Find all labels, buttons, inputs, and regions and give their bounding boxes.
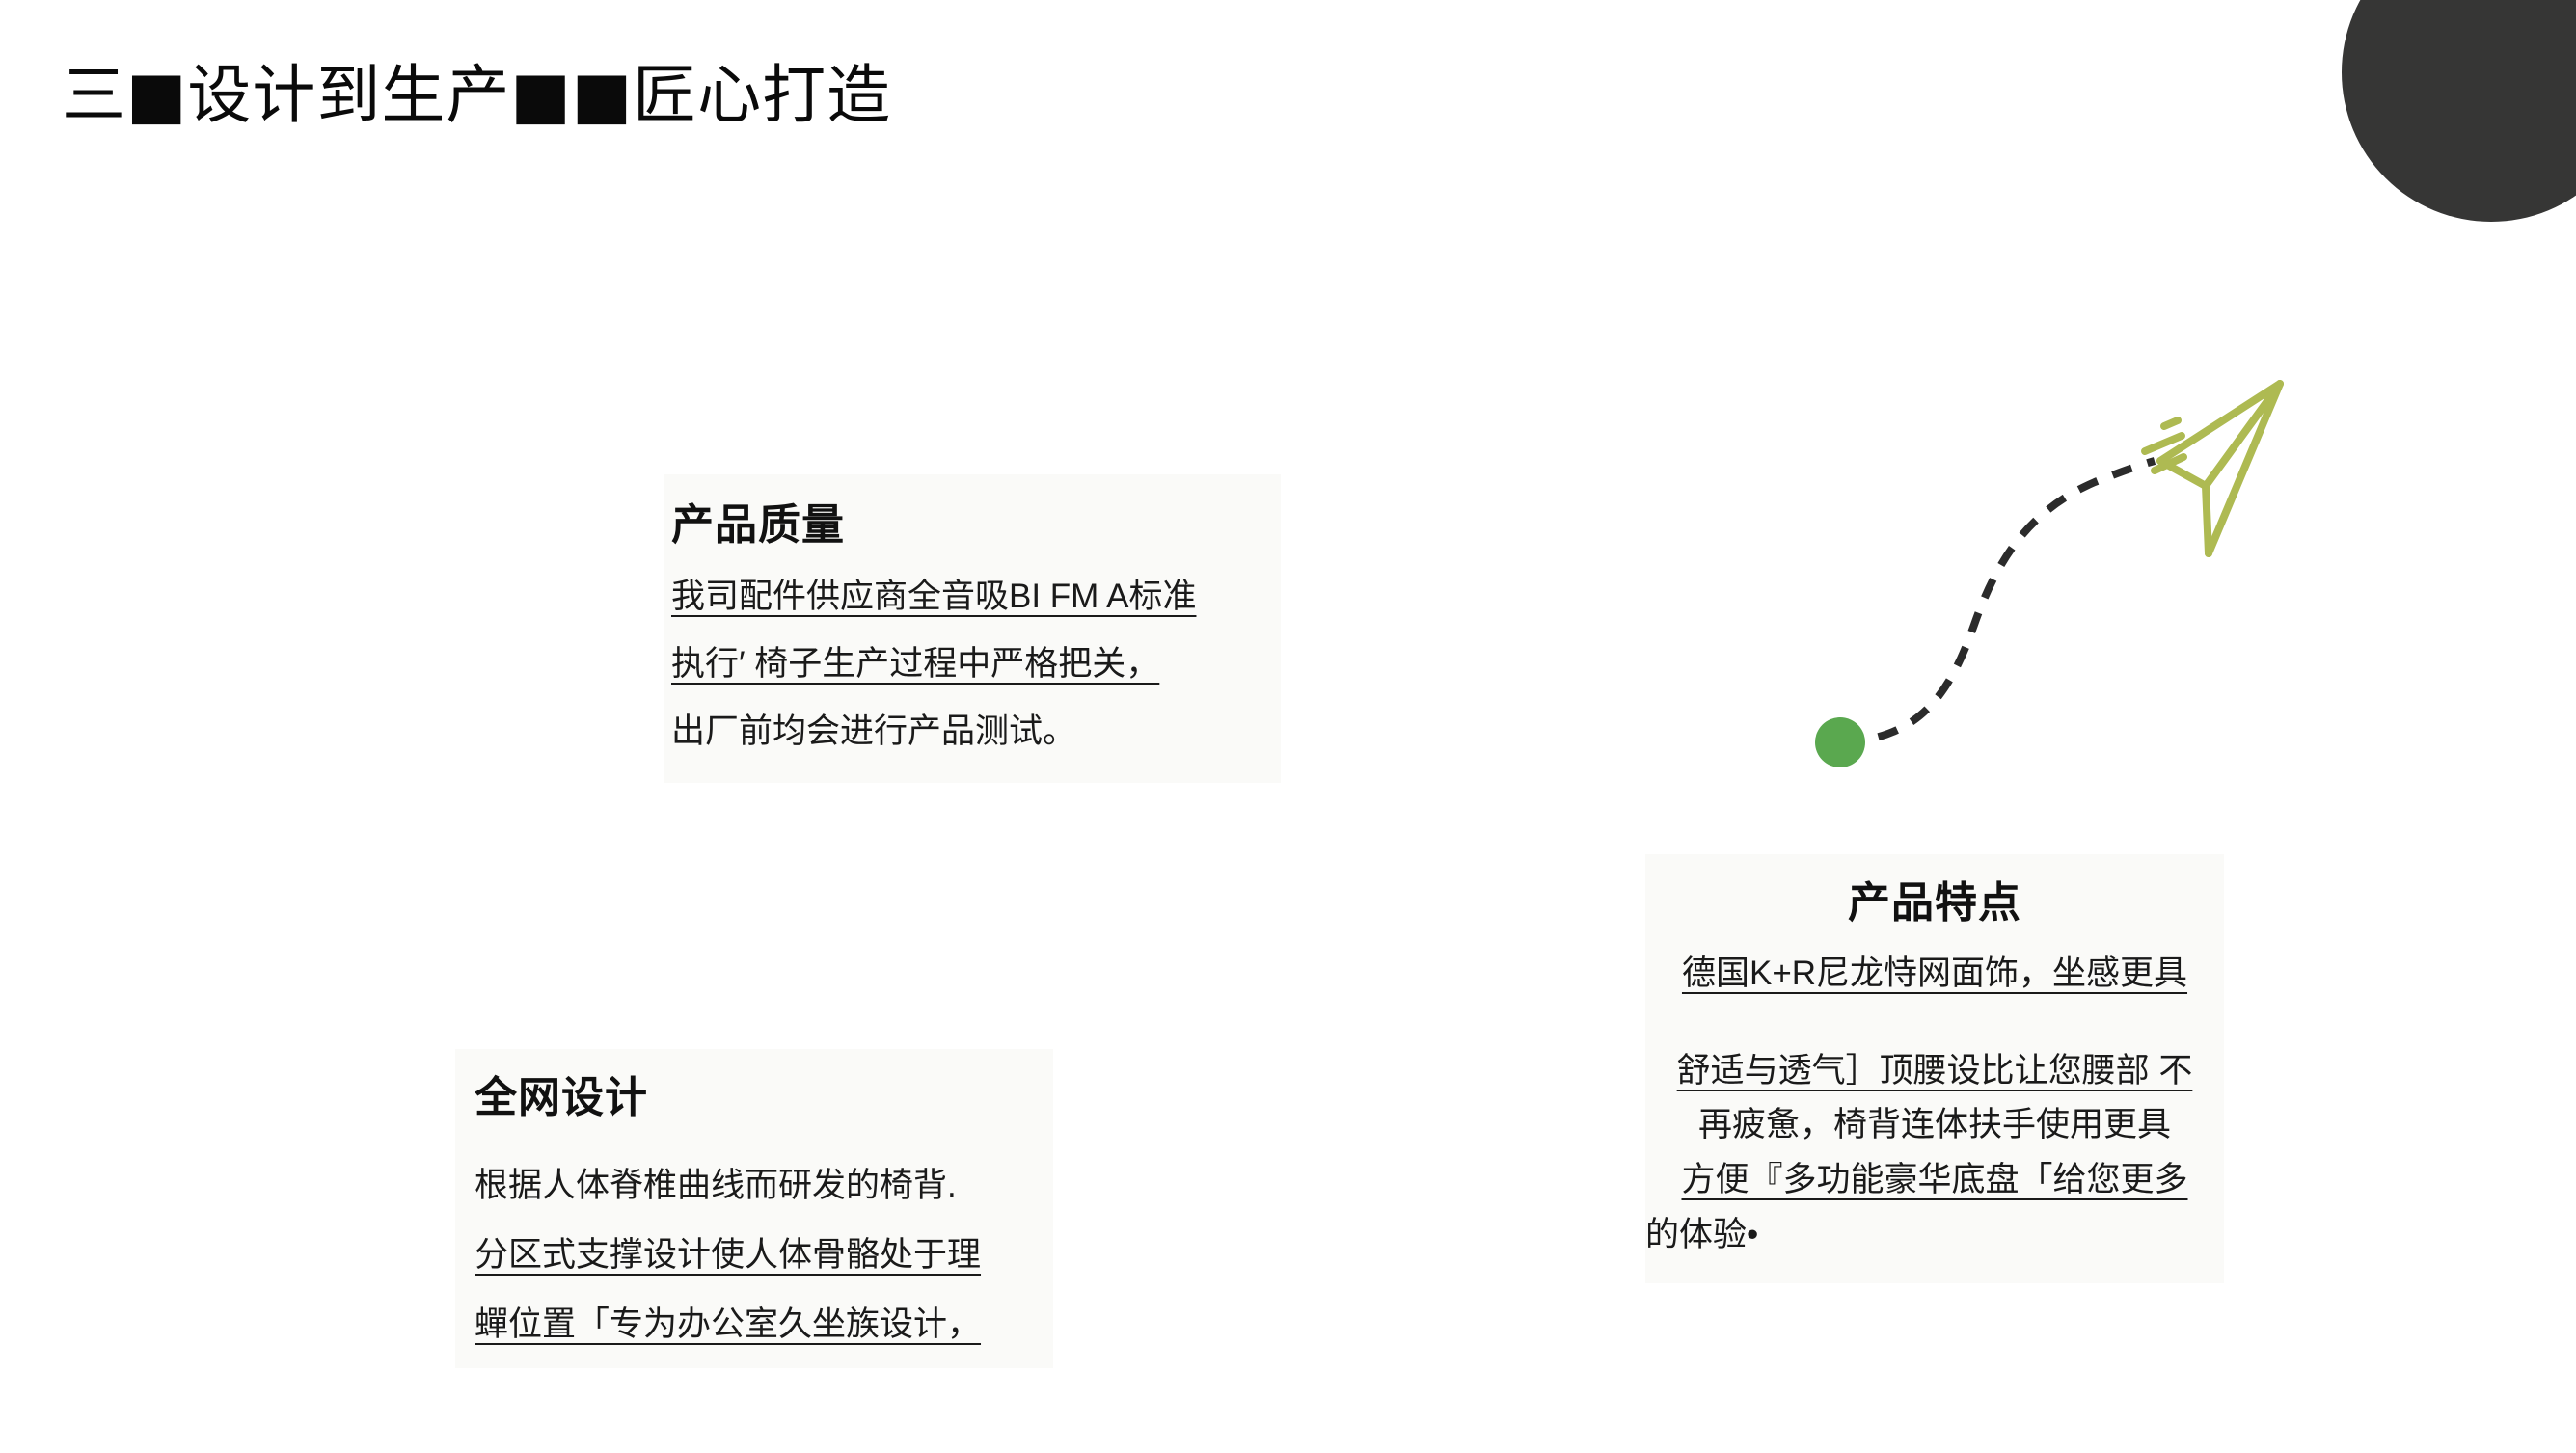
- card-text-line: 德国K+R尼龙恃网面饰，坐感更具: [1645, 947, 2224, 1002]
- card-text-line: 蟬位置「专为办公室久坐族设计，: [475, 1290, 1053, 1359]
- card-body-design: 根据人体脊椎曲线而研发的椅背. 分区式支撑设计使人体骨骼处于理 蟬位置「专为办公…: [455, 1151, 1053, 1359]
- content-card-quality: 产品质量 我司配件供应商全音吸BI FM A标准 执行′ 椅子生产过程中严格把关…: [664, 474, 1281, 783]
- content-card-design: 全网设计 根据人体脊椎曲线而研发的椅背. 分区式支撑设计使人体骨骼处于理 蟬位置…: [455, 1049, 1053, 1368]
- slide-canvas: 三■设计到生产■■匠心打造 产品质量 我司配件供应商全音吸BI FM A标准 执…: [0, 0, 2576, 1453]
- card-text-line: 根据人体脊椎曲线而研发的椅背.: [475, 1151, 1053, 1221]
- card-text-line: 分区式支撑设计使人体骨骼处于理: [475, 1221, 1053, 1290]
- card-heading-quality: 产品质量: [664, 490, 1281, 552]
- card-text-line: 再疲惫，椅背连体扶手使用更具: [1645, 1098, 2224, 1153]
- decorative-corner-circle: [2342, 0, 2576, 222]
- dashed-trail-icon: [1842, 461, 2155, 742]
- content-card-features: 产品特点 德国K+R尼龙恃网面饰，坐感更具 舒适与透气］顶腰设比让您腰部 不 再…: [1645, 854, 2224, 1283]
- card-heading-features: 产品特点: [1645, 868, 2224, 929]
- paper-plane-illustration: [1805, 364, 2288, 769]
- paper-plane-icon: [2160, 384, 2280, 553]
- card-text-line: 的体验•: [1645, 1208, 2224, 1263]
- card-text-line: 执行′ 椅子生产过程中严格把关，: [671, 631, 1281, 698]
- card-text-line: 我司配件供应商全音吸BI FM A标准: [671, 563, 1281, 631]
- card-body-features: 德国K+R尼龙恃网面饰，坐感更具 舒适与透气］顶腰设比让您腰部 不 再疲惫，椅背…: [1645, 947, 2224, 1262]
- card-text-line: 舒适与透气］顶腰设比让您腰部 不: [1645, 1044, 2224, 1099]
- card-heading-design: 全网设计: [455, 1063, 1053, 1124]
- origin-dot-icon: [1815, 717, 1865, 767]
- card-text-line: 出厂前均会进行产品测试。: [671, 698, 1281, 766]
- card-body-quality: 我司配件供应商全音吸BI FM A标准 执行′ 椅子生产过程中严格把关， 出厂前…: [664, 563, 1281, 766]
- card-text-line: 方便『多功能豪华底盘「给您更多: [1645, 1153, 2224, 1208]
- page-title: 三■设计到生产■■匠心打造: [62, 56, 891, 136]
